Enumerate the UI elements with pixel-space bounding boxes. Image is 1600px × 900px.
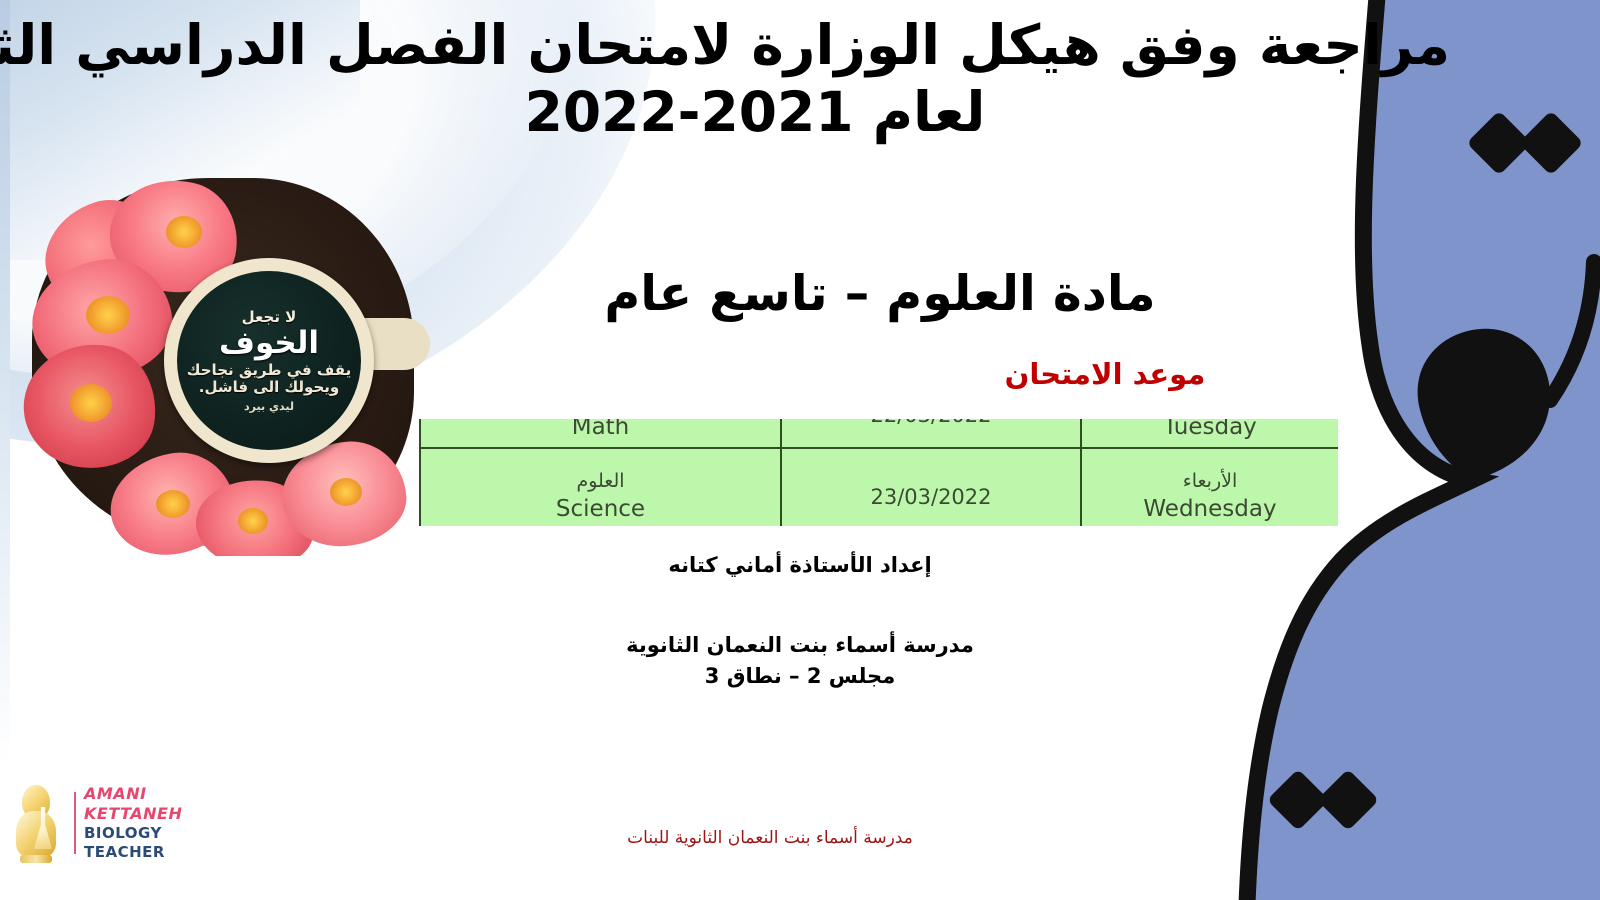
exam-schedule-table-window: الثلاثاء Tuesday 22/03/2022 الرياضيات Ma… xyxy=(419,419,1338,526)
quote-line-3: يقف في طريق نجاحك ويحولك الى فاشل. xyxy=(181,362,357,397)
table-cell-day: الثلاثاء Tuesday xyxy=(1081,419,1338,448)
title-line-2: لعام 2021-2022 xyxy=(60,79,1450,146)
credits-block: إعداد الأستاذة أماني كتانه مدرسة أسماء ب… xyxy=(420,550,1180,693)
title-line-1: مراجعة وفق هيكل الوزارة لامتحان الفصل ال… xyxy=(60,12,1450,79)
table-cell-date: 23/03/2022 xyxy=(781,448,1081,526)
day-ar: الأربعاء xyxy=(1088,469,1332,494)
table-row: الأربعاء Wednesday 23/03/2022 العلوم Sci… xyxy=(420,448,1338,526)
table-cell-subject: العلوم Science xyxy=(420,448,781,526)
subject-heading: مادة العلوم – تاسع عام xyxy=(430,265,1330,322)
day-en: Wednesday xyxy=(1088,495,1332,525)
prepared-by-line: إعداد الأستاذة أماني كتانه xyxy=(420,550,1180,582)
credits-spacer xyxy=(420,582,1180,630)
scientist-silhouette-icon xyxy=(12,781,66,865)
flower-center xyxy=(166,216,202,248)
school-line: مدرسة أسماء بنت النعمان الثانوية xyxy=(420,630,1180,662)
subject-en: Math xyxy=(427,419,774,443)
subject-en: Science xyxy=(427,495,774,525)
exam-date-label: موعد الامتحان xyxy=(900,357,1310,391)
flower-center xyxy=(238,508,268,534)
exam-schedule-table: الثلاثاء Tuesday 22/03/2022 الرياضيات Ma… xyxy=(419,419,1338,526)
day-en: Tuesday xyxy=(1088,419,1332,443)
zone-line: مجلس 2 – نطاق 3 xyxy=(420,661,1180,693)
table-row: الثلاثاء Tuesday 22/03/2022 الرياضيات Ma… xyxy=(420,419,1338,448)
quote-line-1: لا تجعل xyxy=(242,309,297,326)
flower-center xyxy=(70,384,112,422)
coffee-surface-text: لا تجعل الخوف يقف في طريق نجاحك ويحولك ا… xyxy=(177,271,361,450)
subject-ar: العلوم xyxy=(427,469,774,494)
silhouette-base xyxy=(20,855,52,863)
flower-center xyxy=(330,478,362,506)
logo-text: AMANI KETTANEH BIOLOGY TEACHER xyxy=(84,784,192,862)
table-cell-date: 22/03/2022 xyxy=(781,419,1081,448)
motivational-quote-image: لا تجعل الخوف يقف في طريق نجاحك ويحولك ا… xyxy=(14,168,432,556)
table-cell-subject: الرياضيات Math xyxy=(420,419,781,448)
logo-divider xyxy=(74,792,76,854)
table-cell-day: الأربعاء Wednesday xyxy=(1081,448,1338,526)
teacher-logo: AMANI KETTANEH BIOLOGY TEACHER xyxy=(6,778,192,868)
quote-keyword: الخوف xyxy=(219,326,319,361)
flower-center xyxy=(156,490,190,518)
logo-name: AMANI KETTANEH xyxy=(84,784,192,824)
page-title: مراجعة وفق هيكل الوزارة لامتحان الفصل ال… xyxy=(60,12,1450,146)
logo-role: BIOLOGY TEACHER xyxy=(84,824,192,862)
silhouette-body xyxy=(16,811,56,857)
background-left-edge-strip xyxy=(0,0,10,900)
slide-canvas: مراجعة وفق هيكل الوزارة لامتحان الفصل ال… xyxy=(0,0,1600,900)
footer-school-name: مدرسة أسماء بنت النعمان الثانوية للبنات xyxy=(420,828,1120,848)
flower-center xyxy=(86,296,130,334)
quote-attribution: ليدي بيرد xyxy=(244,400,294,413)
